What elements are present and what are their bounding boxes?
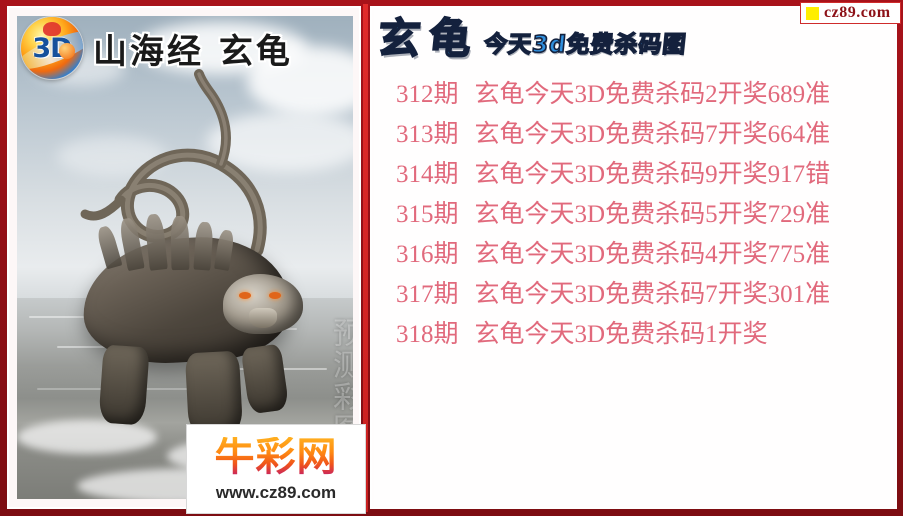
list-item: 313期 玄龟今天3D免费杀码7开奖664准 <box>374 112 893 152</box>
poster-root: 预测彩图 3D 山海经 玄龟 牛彩网 www.cz89.com 玄龟 今天3d免… <box>0 0 903 516</box>
photo-title-bar: 3D 山海经 玄龟 <box>17 16 353 80</box>
record-period: 318期 <box>396 314 459 350</box>
turtle-leg <box>98 344 149 425</box>
right-text-panel: 玄龟 今天3d免费杀码图 312期 玄龟今天3D免费杀码2开奖689准 313期… <box>370 6 897 509</box>
list-item: 316期 玄龟今天3D免费杀码4开奖775准 <box>374 232 893 272</box>
site-logo-name: 牛彩网 <box>215 437 338 477</box>
record-body: 玄龟今天3D免费杀码1开奖 <box>475 314 768 350</box>
shell-ridge <box>193 221 213 270</box>
record-period: 315期 <box>396 194 459 230</box>
record-period: 314期 <box>396 154 459 190</box>
record-period: 313期 <box>396 114 459 150</box>
record-body: 玄龟今天3D免费杀码4开奖775准 <box>475 234 831 270</box>
list-item: 314期 玄龟今天3D免费杀码9开奖917错 <box>374 152 893 192</box>
panel-title-sub: 今天3d免费杀码图 <box>483 34 688 57</box>
record-period: 317期 <box>396 274 459 310</box>
list-item: 312期 玄龟今天3D免费杀码2开奖689准 <box>374 72 893 112</box>
record-list: 312期 玄龟今天3D免费杀码2开奖689准 313期 玄龟今天3D免费杀码7开… <box>374 72 893 352</box>
sea-foam <box>17 420 157 454</box>
right-panel-inner: 玄龟 今天3d免费杀码图 312期 玄龟今天3D免费杀码2开奖689准 313期… <box>374 10 893 505</box>
site-logo-url: www.cz89.com <box>216 483 336 503</box>
record-body: 玄龟今天3D免费杀码7开奖301准 <box>475 274 831 310</box>
3d-lottery-logo-icon: 3D <box>21 17 83 79</box>
cz89-badge[interactable]: cz89.com <box>800 2 901 24</box>
logo-ball-icon <box>59 43 75 59</box>
photo-title: 山海经 玄龟 <box>93 24 293 73</box>
record-period: 316期 <box>396 234 459 270</box>
record-period: 312期 <box>396 74 459 110</box>
list-item: 318期 玄龟今天3D免费杀码1开奖 <box>374 312 893 352</box>
yellow-square-icon <box>806 7 819 20</box>
record-body: 玄龟今天3D免费杀码2开奖689准 <box>475 74 831 110</box>
cz89-badge-text: cz89.com <box>824 5 891 21</box>
turtle-eye <box>239 292 251 299</box>
list-item: 317期 玄龟今天3D免费杀码7开奖301准 <box>374 272 893 312</box>
panel-title-main: 玄龟 <box>376 18 482 60</box>
record-body: 玄龟今天3D免费杀码9开奖917错 <box>475 154 831 190</box>
panel-title: 玄龟 今天3d免费杀码图 <box>378 18 686 60</box>
turtle-eye <box>269 292 281 299</box>
record-body: 玄龟今天3D免费杀码7开奖664准 <box>475 114 831 150</box>
record-body: 玄龟今天3D免费杀码5开奖729准 <box>475 194 831 230</box>
site-logo[interactable]: 牛彩网 www.cz89.com <box>186 424 366 514</box>
list-item: 315期 玄龟今天3D免费杀码5开奖729准 <box>374 192 893 232</box>
shell-ridge <box>171 216 190 270</box>
